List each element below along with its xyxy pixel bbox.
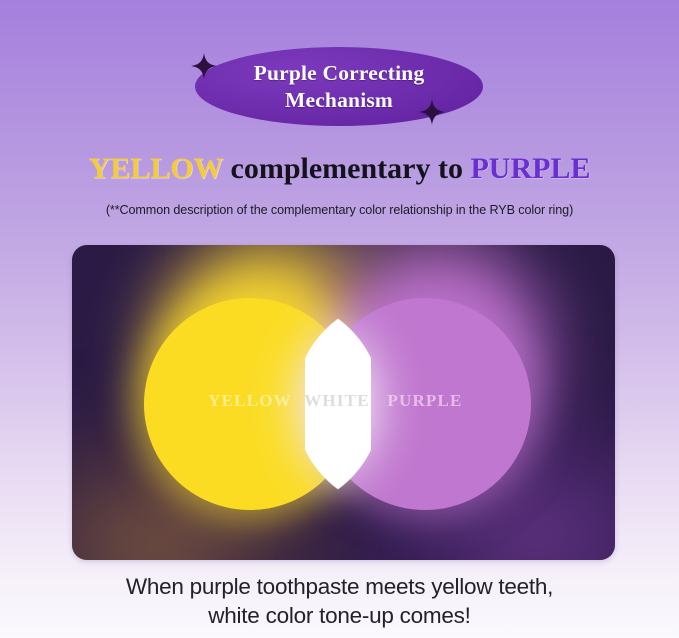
badge-purple-correcting-mechanism: Purple Correcting Mechanism: [195, 47, 483, 126]
badge-line-1: Purple Correcting: [254, 60, 425, 86]
caption-line-1: When purple toothpaste meets yellow teet…: [0, 572, 679, 601]
headline-keyword-purple: PURPLE: [470, 152, 590, 185]
headline-keyword-yellow: YELLOW: [89, 152, 224, 185]
venn-diagram-panel: YELLOW WHITE PURPLE: [72, 245, 615, 560]
headline: YELLOW complementary to PURPLE: [0, 154, 679, 184]
badge-text: Purple Correcting Mechanism: [195, 47, 483, 126]
caption: When purple toothpaste meets yellow teet…: [0, 572, 679, 631]
circle-purple: [319, 298, 531, 510]
note-text: (**Common description of the complementa…: [0, 203, 679, 217]
headline-middle-text: complementary to: [223, 152, 470, 185]
badge-line-2: Mechanism: [285, 87, 393, 113]
caption-line-2: white color tone-up comes!: [0, 601, 679, 630]
infographic-page: Purple Correcting Mechanism YELLOW compl…: [0, 0, 679, 638]
